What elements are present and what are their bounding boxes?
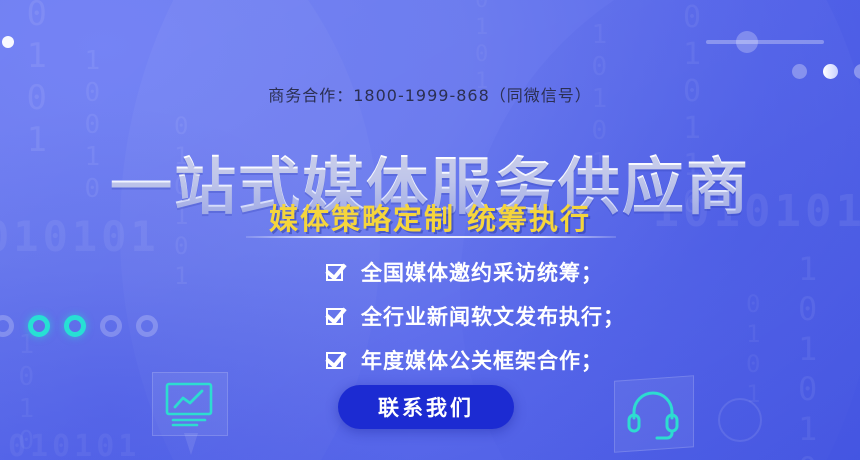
checkbox-checked-icon (326, 264, 343, 281)
contact-us-button[interactable]: 联系我们 (338, 385, 514, 429)
feature-list: 全国媒体邀约采访统筹； 全行业新闻软文发布执行； 年度媒体公关框架合作； (326, 252, 625, 384)
promo-banner: 0101 10010 010101 0101 10101 010110 1010… (0, 0, 860, 460)
list-item-label: 全国媒体邀约采访统筹； (361, 257, 603, 287)
divider (246, 236, 616, 238)
list-item: 年度媒体公关框架合作； (326, 340, 625, 380)
list-item-label: 年度媒体公关框架合作； (361, 345, 603, 375)
list-item: 全国媒体邀约采访统筹； (326, 252, 625, 292)
list-item-label: 全行业新闻软文发布执行； (361, 301, 625, 331)
banner-content: 商务合作：1800-1999-868（同微信号） 一站式媒体服务供应商 媒体策略… (0, 0, 860, 460)
contact-info-line: 商务合作：1800-1999-868（同微信号） (0, 82, 860, 106)
checkbox-checked-icon (326, 308, 343, 325)
list-item: 全行业新闻软文发布执行； (326, 296, 625, 336)
subtitle-text: 媒体策略定制 统筹执行 (0, 196, 860, 238)
checkbox-checked-icon (326, 352, 343, 369)
